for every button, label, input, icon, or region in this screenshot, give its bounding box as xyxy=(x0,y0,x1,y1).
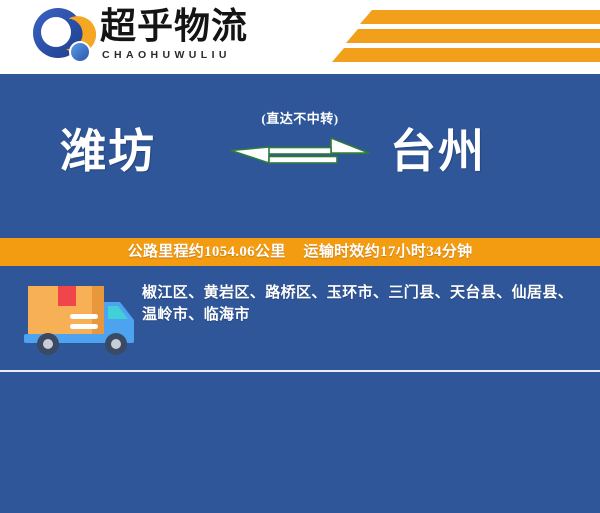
route-arrow-block: (直达不中转) 【往返运输】 xyxy=(225,110,375,206)
brand-name-cn: 超乎物流 xyxy=(100,6,280,46)
distance-text: 公路里程约1054.06公里 xyxy=(128,242,286,262)
chaohu-circle-logo-icon xyxy=(30,6,96,68)
orange-speed-stripes-icon xyxy=(330,8,600,66)
duration-text: 运输时效约17小时34分钟 xyxy=(304,242,473,262)
round-trip-note: 【往返运输】 xyxy=(225,381,600,513)
delivery-truck-icon xyxy=(18,280,138,358)
origin-city: 潍坊 xyxy=(60,124,156,180)
brand-name-en: CHAOHUWULIU xyxy=(100,47,280,63)
header: 超乎物流 CHAOHUWULIU xyxy=(0,0,600,74)
route-info-bar: 公路里程约1054.06公里 运输时效约17小时34分钟 xyxy=(0,236,600,268)
bottom-divider xyxy=(0,370,600,372)
brand-block: 超乎物流 CHAOHUWULIU xyxy=(100,6,280,68)
destination-city: 台州 xyxy=(390,124,486,180)
logistics-banner: 超乎物流 CHAOHUWULIU 潍坊 (直达不中转) xyxy=(0,0,600,400)
bidirectional-arrow-icon xyxy=(225,131,375,171)
direct-service-note: (直达不中转) xyxy=(225,110,375,128)
coverage-area-list: 椒江区、黄岩区、路桥区、玉环市、三门县、天台县、仙居县、温岭市、临海市 xyxy=(142,282,586,326)
route-panel: 潍坊 (直达不中转) 【往返运输】 台州 xyxy=(0,74,600,232)
coverage-section: 椒江区、黄岩区、路桥区、玉环市、三门县、天台县、仙居县、温岭市、临海市 xyxy=(0,268,600,400)
